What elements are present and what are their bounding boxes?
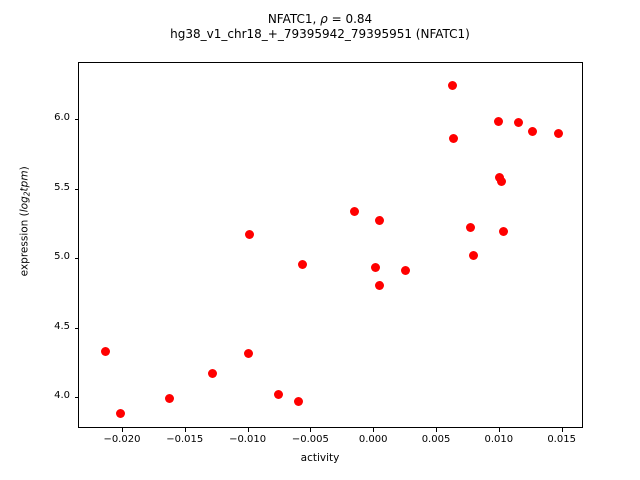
x-tick-mark bbox=[499, 428, 500, 432]
x-tick-label: 0.005 bbox=[401, 434, 471, 445]
scatter-point bbox=[165, 394, 174, 403]
scatter-point bbox=[375, 216, 384, 225]
x-axis-label: activity bbox=[0, 452, 640, 464]
x-tick-mark bbox=[122, 428, 123, 432]
x-tick-label: −0.020 bbox=[87, 434, 157, 445]
y-tick-mark bbox=[75, 189, 79, 190]
scatter-point bbox=[401, 266, 410, 275]
chart-title-line1: NFATC1, ρ = 0.84 bbox=[0, 12, 640, 27]
y-tick-mark bbox=[75, 397, 79, 398]
scatter-point bbox=[497, 177, 506, 186]
y-axis-label-subscript: 2 bbox=[22, 191, 31, 196]
chart-title: NFATC1, ρ = 0.84 hg38_v1_chr18_+_7939594… bbox=[0, 12, 640, 42]
rho-symbol: ρ bbox=[320, 12, 328, 26]
title-gene-prefix: NFATC1, bbox=[268, 12, 320, 26]
scatter-point bbox=[350, 207, 359, 216]
scatter-point bbox=[375, 281, 384, 290]
scatter-point bbox=[554, 129, 563, 138]
scatter-point bbox=[294, 397, 303, 406]
scatter-point bbox=[298, 260, 307, 269]
scatter-point bbox=[101, 347, 110, 356]
x-tick-mark bbox=[185, 428, 186, 432]
x-tick-label: −0.010 bbox=[213, 434, 283, 445]
x-tick-mark bbox=[562, 428, 563, 432]
x-tick-mark bbox=[373, 428, 374, 432]
x-tick-label: 0.000 bbox=[338, 434, 408, 445]
plot-axes-frame bbox=[78, 62, 583, 428]
scatter-point bbox=[466, 223, 475, 232]
scatter-point bbox=[528, 127, 537, 136]
y-tick-label: 4.0 bbox=[10, 390, 70, 401]
scatter-point bbox=[245, 230, 254, 239]
scatter-point bbox=[274, 390, 283, 399]
chart-subtitle: hg38_v1_chr18_+_79395942_79395951 (NFATC… bbox=[0, 27, 640, 42]
y-tick-mark bbox=[75, 328, 79, 329]
scatter-point bbox=[514, 118, 523, 127]
y-axis-label-log: log bbox=[19, 196, 31, 212]
scatter-point bbox=[499, 227, 508, 236]
scatter-point bbox=[449, 134, 458, 143]
x-tick-label: 0.015 bbox=[527, 434, 597, 445]
scatter-points-layer bbox=[79, 63, 582, 427]
x-tick-label: −0.015 bbox=[150, 434, 220, 445]
x-tick-mark bbox=[310, 428, 311, 432]
y-tick-mark bbox=[75, 258, 79, 259]
scatter-point bbox=[469, 251, 478, 260]
scatter-plot-figure: NFATC1, ρ = 0.84 hg38_v1_chr18_+_7939594… bbox=[0, 0, 640, 480]
scatter-point bbox=[244, 349, 253, 358]
x-tick-label: 0.010 bbox=[464, 434, 534, 445]
x-tick-label: −0.005 bbox=[275, 434, 345, 445]
rho-value: = 0.84 bbox=[328, 12, 372, 26]
x-tick-mark bbox=[248, 428, 249, 432]
scatter-point bbox=[116, 409, 125, 418]
y-axis-label-unit: tpm bbox=[19, 170, 31, 191]
y-axis-label-prefix: expression ( bbox=[19, 212, 31, 276]
y-axis-label: expression (log2tpm) bbox=[19, 71, 32, 371]
scatter-point bbox=[448, 81, 457, 90]
scatter-point bbox=[494, 117, 503, 126]
y-tick-mark bbox=[75, 119, 79, 120]
y-axis-label-suffix: ) bbox=[19, 166, 31, 170]
scatter-point bbox=[371, 263, 380, 272]
x-tick-mark bbox=[436, 428, 437, 432]
scatter-point bbox=[208, 369, 217, 378]
